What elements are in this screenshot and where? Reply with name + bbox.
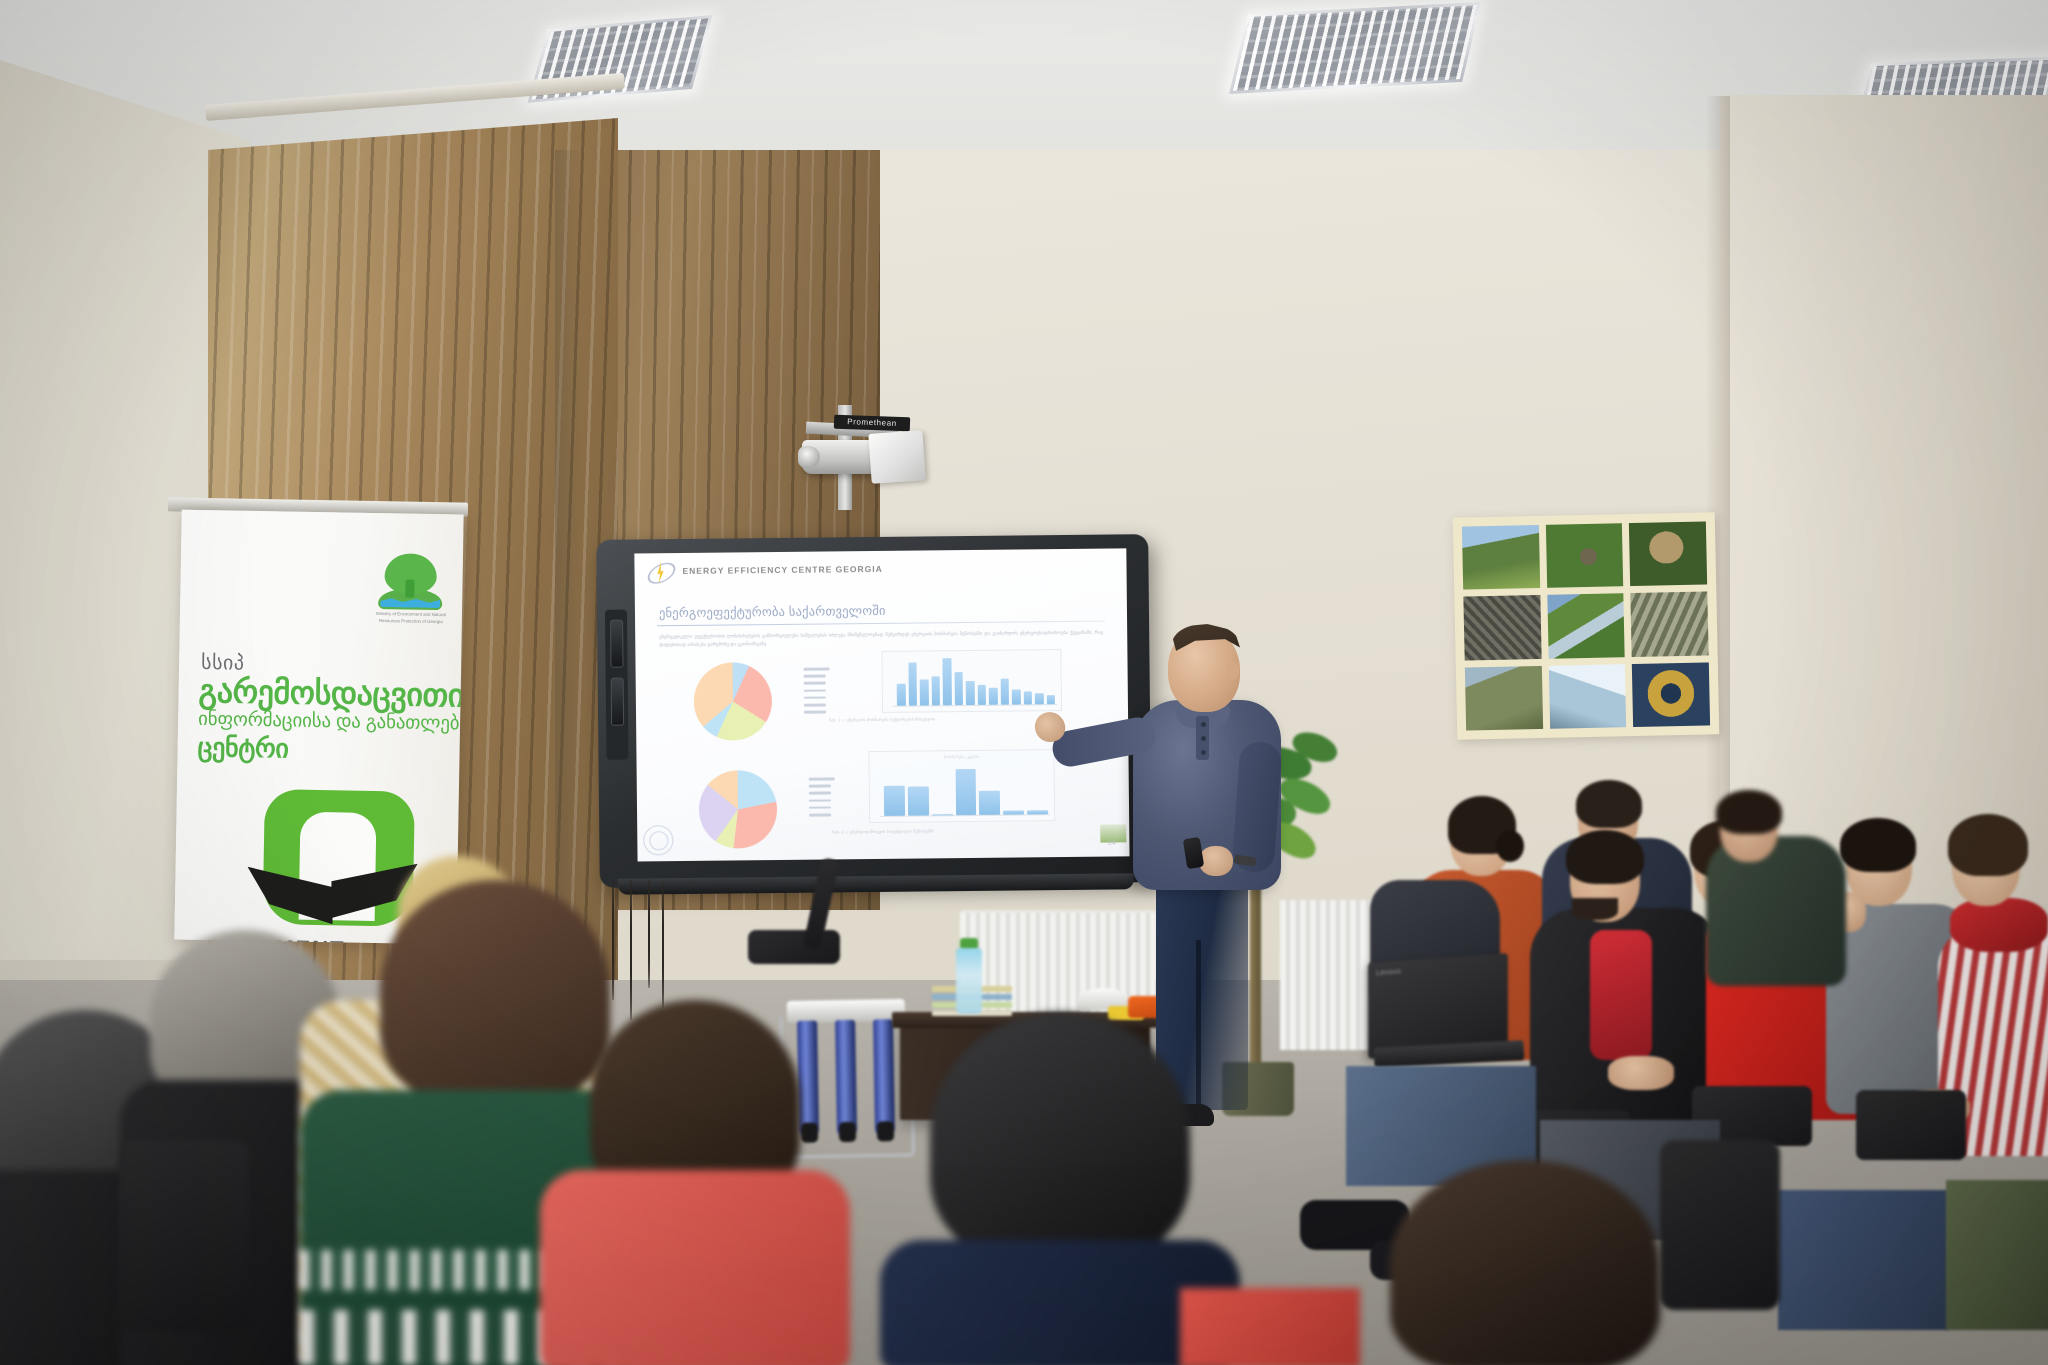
projector-mirror [868,430,925,484]
pie-chart-1-legend [804,667,831,718]
hanging-cable [630,880,632,1020]
slide-body-text: ენერგეტიკული ეფექტურობის ღონისძიებების გ… [659,629,1103,651]
red-hoodie [1590,930,1652,1060]
presenter-button [1201,736,1206,741]
photo-tile [1547,594,1625,659]
ceiling-light-fixture [1229,2,1481,94]
center-logo-icon [263,789,415,927]
chair [120,1140,250,1330]
presentation-slide: ENERGY EFFICIENCY CENTRE GEORGIA ენერგოე… [634,548,1129,861]
presenter-right-hand [1199,846,1233,876]
banner-line-4: ცენტრი [197,732,289,765]
slide-number: 14 [1108,839,1116,846]
solar-collector-demo [787,999,908,1151]
hanging-cable [612,880,614,1000]
ministry-logo-icon: Ministry of Environment and Natural Reso… [378,553,443,626]
chair [748,930,840,964]
ministry-caption: Ministry of Environment and Natural Reso… [376,611,446,626]
photo-tile [1462,525,1540,590]
photo-tile [1631,592,1709,657]
bar-chart-1 [881,649,1062,713]
slide-header: ENERGY EFFICIENCY CENTRE GEORGIA [634,548,1126,591]
photo-tile [1629,521,1707,586]
projector-lens-icon [798,446,820,468]
laptop-brand-label: Lenovo [1376,968,1401,977]
presenter-ear [1226,662,1239,680]
hanging-cable [662,882,664,1008]
photo-grid-board [1453,512,1720,739]
slide-divider [657,621,1105,627]
whiteboard-side-buttons[interactable] [605,610,629,760]
photo-tile [1465,666,1543,731]
pie-chart-1 [693,662,772,741]
chair [1856,1090,1966,1160]
bar-chart-2-bars [884,764,1049,816]
trousers [1946,1180,2048,1330]
presenter-leg-split [1196,940,1201,1110]
clothing [1180,1288,1360,1365]
bar-chart-2-title: მოხმარება, კვტსთ [869,753,1053,760]
photo-tile [1632,662,1710,727]
presenter-button [1201,750,1206,755]
spiral-logo-icon [643,825,673,855]
interactive-whiteboard[interactable]: ENERGY EFFICIENCY CENTRE GEORGIA ენერგოე… [596,534,1152,888]
water-bottle [956,948,982,1014]
chair [1660,1140,1780,1310]
hands [1608,1056,1674,1090]
conference-room-photo: Ministry of Environment and Natural Reso… [0,0,2048,1365]
bar-chart-1-bars [896,654,1055,706]
pie-chart-2 [699,770,778,849]
beard [1572,898,1618,920]
energy-swoosh-logo-icon [646,559,676,587]
slide-org-title: ENERGY EFFICIENCY CENTRE GEORGIA [682,564,882,576]
jeans [1778,1190,1948,1330]
bar-chart-2: მოხმარება, კვტსთ [868,749,1055,823]
wall-corner-shadow [555,150,581,1010]
slide-heading: ენერგოეფექტურობა საქართველოში [659,603,886,620]
photo-tile [1548,664,1626,729]
pie-chart-2-legend [809,777,835,820]
photo-tile [1463,595,1541,660]
projector-brand-label: Promethean [834,415,910,432]
red-scarf [1950,898,2048,952]
photo-tile [1546,523,1624,588]
hanging-cable [648,880,650,988]
presenter-button [1201,722,1206,727]
